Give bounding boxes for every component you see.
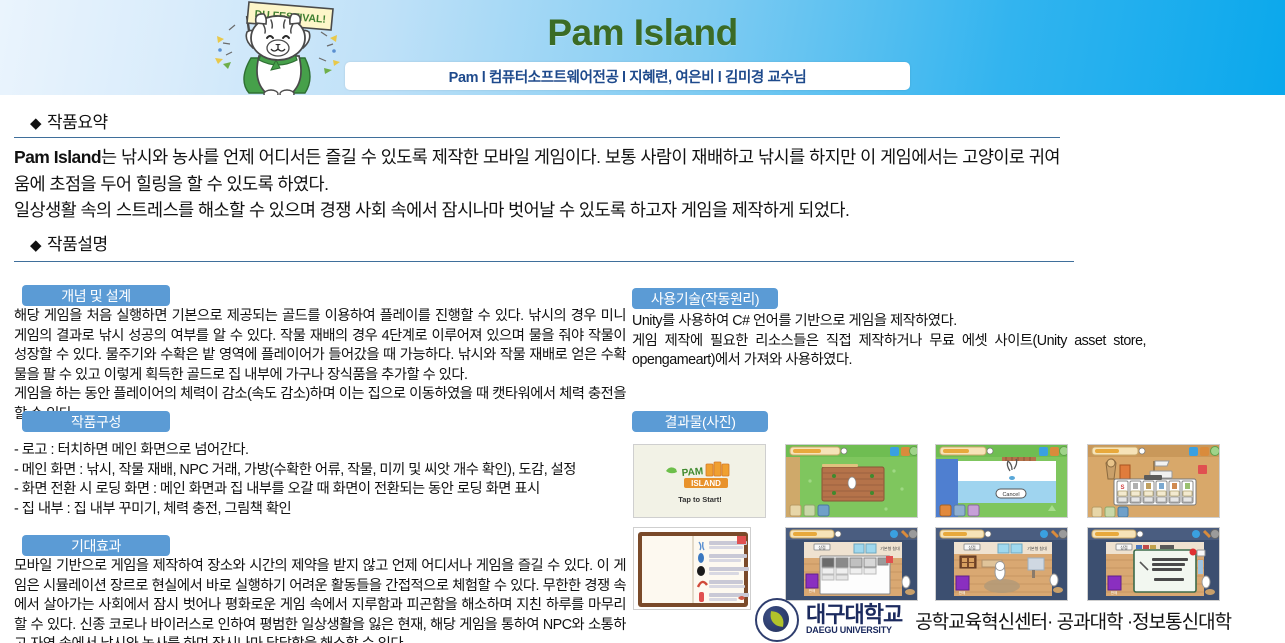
svg-text:상점: 상점: [818, 544, 826, 550]
diamond-icon-2: ◆: [30, 236, 41, 254]
screenshot-npc-shop[interactable]: S: [1087, 444, 1220, 518]
university-name-block: 대구대학교 DAEGU UNIVERSITY: [806, 605, 902, 636]
summary-divider: [14, 137, 1060, 138]
expected-effect-text: 모바일 기반으로 게임을 제작하여 장소와 시간의 제약을 받지 않고 언제 어…: [14, 557, 626, 643]
svg-text:Cancel: Cancel: [1002, 492, 1019, 498]
badge-results: 결과물(사진): [632, 411, 768, 432]
technology-text: Unity를 사용하여 C# 언어를 기반으로 게임을 제작하였다. 게임 제작…: [632, 312, 1146, 371]
summary-heading-label: 작품요약: [47, 113, 108, 132]
svg-text:S: S: [1120, 485, 1124, 491]
header-subtitle-bar: Pam l 컴퓨터소프트웨어전공 l 지혜련, 여은비 l 김미경 교수님: [345, 62, 910, 90]
description-divider: [14, 261, 1074, 262]
badge-technology: 사용기술(작동원리): [632, 288, 778, 309]
summary-text: Pam Island는 낚시와 농사를 언제 어디서든 즐길 수 있도록 제작한…: [14, 144, 1060, 224]
header-subtitle: Pam l 컴퓨터소프트웨어전공 l 지혜련, 여은비 l 김미경 교수님: [449, 66, 807, 87]
footer-university-branding: 대구대학교 DAEGU UNIVERSITY 공학교육혁신센터· 공과대학 ·정…: [755, 598, 1231, 642]
university-departments: 공학교육혁신센터· 공과대학 ·정보통신대학: [915, 607, 1231, 634]
svg-text:기본형 침대: 기본형 침대: [1027, 545, 1047, 551]
svg-text:상점: 상점: [1120, 544, 1128, 550]
summary-heading: ◆작품요약: [30, 108, 108, 133]
screenshot-farm-field[interactable]: [785, 444, 918, 518]
summary-body-text: 는 낚시와 농사를 언제 어디서든 즐길 수 있도록 제작한 모바일 게임이다.…: [14, 147, 1060, 220]
svg-text:판매: 판매: [1111, 590, 1117, 595]
svg-text:기본형 침대: 기본형 침대: [880, 545, 900, 551]
university-name-kr: 대구대학교: [806, 605, 902, 625]
screenshot-fishing-minigame[interactable]: Cancel: [935, 444, 1068, 518]
screenshot-house-interior[interactable]: 상점 기본형 침대 판매: [935, 527, 1068, 601]
screenshot-house-furniture-menu[interactable]: 상점 기본형 침대 판매: [785, 527, 918, 601]
badge-expected-effect: 기대효과: [22, 535, 170, 556]
svg-text:상점: 상점: [968, 544, 976, 550]
screenshot-logo-title[interactable]: PAM ISLAND Tap to Start!: [633, 444, 766, 518]
diamond-icon: ◆: [30, 114, 41, 132]
composition-text: - 로고 : 터치하면 메인 화면으로 넘어간다. - 메인 화면 : 낚시, …: [14, 441, 626, 519]
screenshot-dialog-popup[interactable]: 상점 판매: [1087, 527, 1220, 601]
svg-text:Tap to Start!: Tap to Start!: [678, 495, 722, 504]
university-name-en: DAEGU UNIVERSITY: [806, 625, 902, 636]
badge-concept-design: 개념 및 설계: [22, 285, 170, 306]
description-heading-label: 작품설명: [47, 235, 108, 254]
svg-text:PAM: PAM: [681, 466, 703, 479]
concept-design-text: 해당 게임을 처음 실행하면 기본으로 제공되는 골드를 이용하여 플레이를 진…: [14, 307, 626, 425]
screenshot-picture-book[interactable]: [633, 527, 751, 610]
page-title: Pam Island: [0, 12, 1285, 54]
svg-text:ISLAND: ISLAND: [691, 479, 721, 488]
badge-composition: 작품구성: [22, 411, 170, 432]
summary-lead-bold: Pam Island: [14, 147, 101, 167]
poster-header: DU FESTIVAL!: [0, 0, 1285, 95]
daegu-university-seal-icon: [755, 598, 799, 642]
description-heading: ◆작품설명: [30, 230, 108, 255]
svg-text:판매: 판매: [959, 590, 965, 595]
svg-text:판매: 판매: [809, 588, 815, 593]
